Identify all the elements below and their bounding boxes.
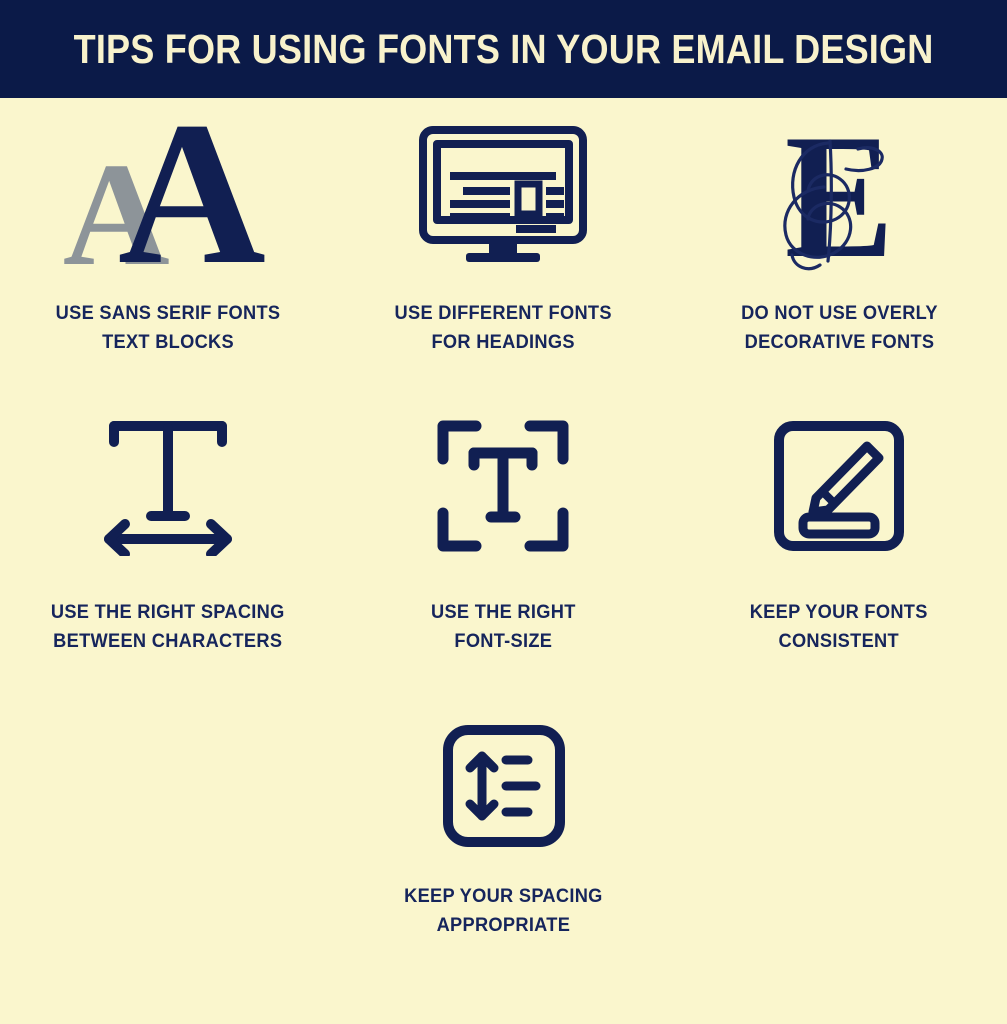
tip-caption: DO NOT USE OVERLY DECORATIVE FONTS — [741, 300, 938, 358]
line-spacing-square-icon — [442, 724, 566, 848]
caption-line-1: USE THE RIGHT — [431, 599, 576, 628]
pen-underline-square-icon — [773, 420, 905, 552]
decorative-monogram-icon: E — [764, 121, 914, 271]
icon-box: A A — [63, 116, 273, 276]
caption-line-1: USE DIFFERENT FONTS — [395, 300, 612, 329]
tip-caption: USE THE RIGHT SPACING BETWEEN CHARACTERS — [51, 599, 285, 657]
tip-caption: USE THE RIGHT FONT-SIZE — [431, 599, 576, 657]
caption-line-2: BETWEEN CHARACTERS — [51, 628, 285, 657]
tip-card-letter-spacing: USE THE RIGHT SPACING BETWEEN CHARACTERS — [0, 411, 336, 711]
tips-row-3: KEEP YOUR SPACING APPROPRIATE — [0, 711, 1007, 1001]
tip-caption: USE DIFFERENT FONTS FOR HEADINGS — [395, 300, 612, 358]
caption-line-1: USE SANS SERIF FONTS — [55, 300, 280, 329]
double-letter-a-icon: A A — [63, 120, 273, 272]
icon-box — [442, 711, 566, 861]
caption-line-2: TEXT BLOCKS — [55, 329, 280, 358]
icon-box: E — [764, 116, 914, 276]
icon-box — [436, 411, 570, 561]
caption-line-2: DECORATIVE FONTS — [741, 329, 938, 358]
tip-card-consistent-fonts: KEEP YOUR FONTS CONSISTENT — [671, 411, 1007, 711]
icon-box — [773, 411, 905, 561]
page-title: TIPS FOR USING FONTS IN YOUR EMAIL DESIG… — [74, 29, 934, 70]
caption-line-1: KEEP YOUR SPACING — [404, 883, 602, 912]
tip-card-different-fonts: USE DIFFERENT FONTS FOR HEADINGS — [336, 116, 672, 411]
tip-caption: KEEP YOUR FONTS CONSISTENT — [750, 599, 928, 657]
caption-line-2: FONT-SIZE — [431, 628, 576, 657]
caption-line-2: CONSISTENT — [750, 628, 928, 657]
tip-card-line-spacing: KEEP YOUR SPACING APPROPRIATE — [336, 711, 672, 1001]
tips-row-2: USE THE RIGHT SPACING BETWEEN CHARACTERS — [0, 411, 1007, 711]
icon-box — [419, 116, 587, 276]
letter-a-front-glyph: A — [118, 91, 266, 296]
tips-row-1: A A USE SANS SERIF FONTS TEXT BLOCKS — [0, 116, 1007, 411]
caption-line-2: APPROPRIATE — [404, 912, 602, 941]
tip-caption: USE SANS SERIF FONTS TEXT BLOCKS — [55, 300, 280, 358]
tip-card-sans-serif: A A USE SANS SERIF FONTS TEXT BLOCKS — [0, 116, 336, 411]
tip-card-font-size: USE THE RIGHT FONT-SIZE — [336, 411, 672, 711]
caption-line-2: FOR HEADINGS — [395, 329, 612, 358]
caption-line-1: USE THE RIGHT SPACING — [51, 599, 285, 628]
letter-spacing-arrow-icon — [97, 416, 239, 556]
caption-line-1: DO NOT USE OVERLY — [741, 300, 938, 329]
icon-box — [97, 411, 239, 561]
script-flourish-icon — [758, 127, 908, 275]
infographic-poster: TIPS FOR USING FONTS IN YOUR EMAIL DESIG… — [0, 0, 1007, 1024]
tip-card-decorative-fonts: E DO NOT USE OVERLY — [671, 116, 1007, 411]
font-size-crop-frame-icon — [436, 419, 570, 553]
tips-grid: A A USE SANS SERIF FONTS TEXT BLOCKS — [0, 98, 1007, 1001]
tip-caption: KEEP YOUR SPACING APPROPRIATE — [404, 883, 602, 941]
caption-line-1: KEEP YOUR FONTS — [750, 599, 928, 628]
monitor-layout-icon — [419, 126, 587, 266]
